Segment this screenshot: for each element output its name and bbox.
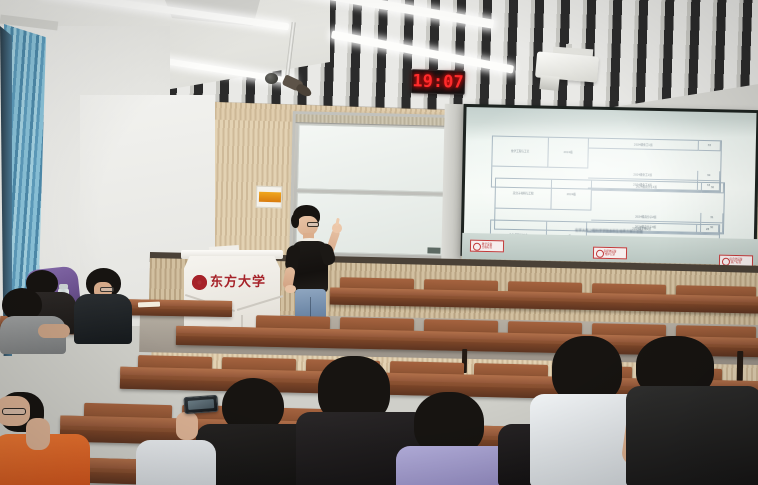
university-crest-icon bbox=[192, 275, 207, 290]
seal-line-2: 资产标签 bbox=[731, 261, 741, 264]
student-hand-raised bbox=[26, 418, 50, 450]
speaker-glasses bbox=[307, 222, 319, 227]
phone-screen bbox=[188, 399, 215, 410]
student-glasses bbox=[2, 408, 26, 415]
speaker-presenter bbox=[276, 205, 350, 330]
table-row: 化学工程与工艺2024级2024级化工1班33 bbox=[492, 137, 721, 172]
table-cell-count: 31 bbox=[701, 213, 723, 223]
table-cell-count: 34 bbox=[698, 171, 720, 181]
equipment-seal-sticker: 多媒体设备 维护记录 bbox=[593, 247, 627, 260]
table-cell-item: 2024级高分子1班 bbox=[592, 181, 702, 193]
podium-university-logo: 东方大学 bbox=[192, 272, 274, 292]
list-item bbox=[626, 336, 758, 485]
table-cell-value: 2024级 bbox=[548, 138, 589, 169]
equipment-seal-sticker: 教学设备 合格标签 bbox=[470, 240, 504, 253]
table-cell-item: 2024级化工1班 bbox=[589, 139, 699, 151]
seal-line-2: 合格标签 bbox=[482, 246, 492, 249]
projector-lens-icon bbox=[539, 75, 559, 91]
list-item bbox=[0, 392, 92, 485]
table-cell-label: 高分子材料与工程 bbox=[495, 179, 552, 210]
table-cell-count: 33 bbox=[699, 141, 721, 151]
seal-text: 信息化设备 资产标签 bbox=[729, 258, 742, 265]
lecture-hall-photo: 19:07 化学工程与工艺2024级2024级化工1班332024级化工2班34… bbox=[0, 0, 758, 485]
whiteboard-eraser bbox=[427, 247, 440, 253]
table-cell-value: 2024级 bbox=[551, 180, 592, 211]
student-torso bbox=[626, 386, 758, 485]
student-glasses bbox=[100, 287, 114, 292]
table-cell-count: 30 bbox=[702, 183, 724, 193]
university-name-text: 东方大学 bbox=[210, 276, 266, 289]
student-torso bbox=[74, 294, 132, 344]
list-item bbox=[72, 268, 142, 344]
whiteboard-upper-panel bbox=[297, 124, 447, 193]
student-arm bbox=[38, 324, 70, 338]
table-cell-label: 化学工程与工艺 bbox=[492, 137, 549, 168]
speaker-hair-side bbox=[291, 214, 299, 228]
table-cell-count: 28 bbox=[697, 225, 719, 235]
clock-time-display: 19:07 bbox=[412, 73, 464, 91]
seal-text: 多媒体设备 维护记录 bbox=[603, 250, 616, 257]
student-hand bbox=[176, 412, 198, 440]
seal-line-2: 维护记录 bbox=[605, 253, 615, 256]
notice-plate-face bbox=[259, 192, 281, 203]
seal-stamp-icon bbox=[473, 243, 481, 251]
list-item bbox=[0, 288, 72, 348]
smartphone[interactable] bbox=[183, 395, 218, 414]
student-torso bbox=[136, 440, 216, 485]
seal-text: 教学设备 合格标签 bbox=[482, 243, 493, 250]
table-row: 高分子材料与工程2024级2024级高分子1班30 bbox=[495, 179, 724, 214]
digital-wall-clock: 19:07 bbox=[411, 69, 466, 94]
camera-dome-icon bbox=[265, 73, 278, 84]
